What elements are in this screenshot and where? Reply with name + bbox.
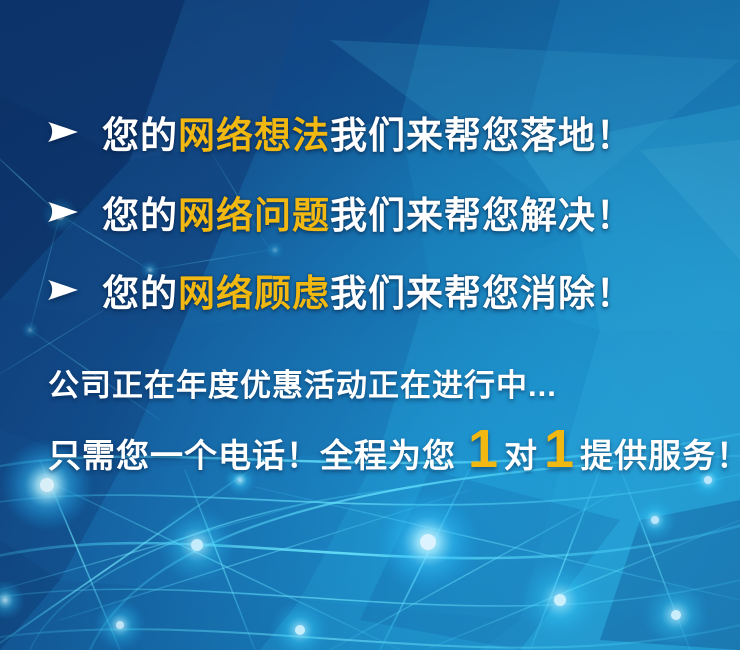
bullet-suffix-3: 我们来帮您消除！ <box>330 273 634 314</box>
bullet-text-2: 您的网络问题我们来帮您解决！ <box>102 185 634 239</box>
bullet-highlight-3: 网络顾虑 <box>178 273 330 314</box>
subtext-line2-part1: 只需您一个电话！全程为您 <box>48 429 456 477</box>
bullet-suffix-1: 我们来帮您落地！ <box>330 115 634 156</box>
one-on-one-number-first: 1 <box>468 425 498 474</box>
one-on-one-number-second: 1 <box>544 425 574 474</box>
bullet-prefix-2: 您的 <box>102 195 178 236</box>
bullet-row-1: 您的网络想法我们来帮您落地！ <box>46 104 634 160</box>
bullet-suffix-2: 我们来帮您解决！ <box>330 195 634 236</box>
promo-subtext-line-2: 只需您一个电话！全程为您 1 对 1 提供服务！ <box>48 425 740 477</box>
bullet-row-3: 您的网络顾虑我们来帮您消除！ <box>46 262 634 318</box>
arrow-right-icon <box>46 117 80 147</box>
arrow-right-icon <box>46 197 80 227</box>
bullet-prefix-1: 您的 <box>102 115 178 156</box>
bullet-highlight-2: 网络问题 <box>178 195 330 236</box>
bullet-prefix-3: 您的 <box>102 273 178 314</box>
bullet-row-2: 您的网络问题我们来帮您解决！ <box>46 184 634 240</box>
bullet-text-3: 您的网络顾虑我们来帮您消除！ <box>102 263 634 317</box>
banner-content: 您的网络想法我们来帮您落地！ 您的网络问题我们来帮您解决！ 您的网络顾虑我们来帮… <box>0 0 740 650</box>
bullet-highlight-1: 网络想法 <box>178 115 330 156</box>
promo-subtext-line-1: 公司正在年度优惠活动正在进行中... <box>48 360 557 405</box>
bullet-text-1: 您的网络想法我们来帮您落地！ <box>102 105 634 159</box>
promo-banner: 您的网络想法我们来帮您落地！ 您的网络问题我们来帮您解决！ 您的网络顾虑我们来帮… <box>0 0 740 650</box>
subtext-line2-middle: 对 <box>504 429 538 477</box>
subtext-line2-part2: 提供服务！ <box>580 429 740 477</box>
arrow-right-icon <box>46 275 80 305</box>
